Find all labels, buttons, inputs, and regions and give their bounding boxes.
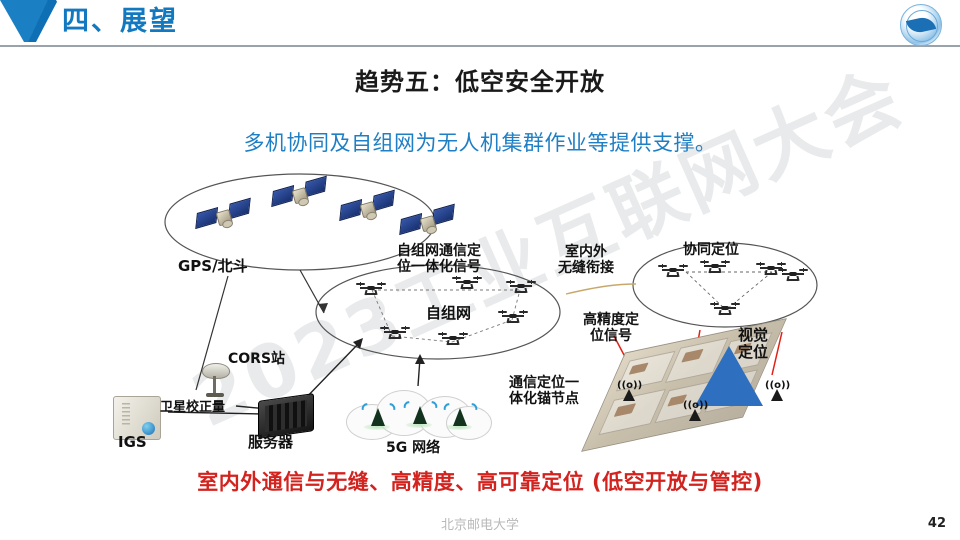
label-satellite-correction: 卫星校正量 bbox=[160, 401, 225, 416]
header-divider bbox=[0, 45, 960, 47]
drone-icon bbox=[452, 276, 482, 290]
label-five-g-network: 5G 网络 bbox=[386, 441, 440, 457]
slide-header: 四、展望 bbox=[0, 0, 960, 48]
label-high-precision-signal: 高精度定 位信号 bbox=[583, 313, 639, 344]
label-gps-beidou: GPS/北斗 bbox=[178, 258, 248, 275]
label-server: 服务器 bbox=[248, 434, 293, 451]
architecture-diagram: ((o)) ((o)) ((o)) GPS/北斗 自组网通信定 位一体化信号 自… bbox=[0, 160, 960, 465]
drone-icon bbox=[380, 326, 410, 340]
drone-icon bbox=[438, 332, 468, 346]
drone-icon bbox=[658, 264, 688, 278]
label-igs: IGS bbox=[118, 434, 147, 451]
drone-icon bbox=[506, 280, 536, 294]
label-cooperative-positioning: 协同定位 bbox=[683, 243, 739, 259]
slide-root: 四、展望 趋势五：低空安全开放 多机协同及自组网为无人机集群作业等提供支撑。 2… bbox=[0, 0, 960, 540]
label-indoor-outdoor: 室内外 无缝衔接 bbox=[558, 245, 614, 276]
anchor-node-icon: ((o)) bbox=[615, 380, 641, 402]
anchor-node-icon: ((o)) bbox=[681, 400, 707, 422]
anchor-node-icon: ((o)) bbox=[763, 380, 789, 402]
base-station-icon bbox=[446, 400, 472, 428]
indoor-floorplan: ((o)) ((o)) ((o)) bbox=[603, 340, 799, 428]
label-adhoc-signal: 自组网通信定 位一体化信号 bbox=[397, 244, 481, 275]
slide-footer: 北京邮电大学 bbox=[0, 514, 960, 533]
conclusion-text: 室内外通信与无缝、高精度、高可靠定位 (低空开放与管控) bbox=[0, 466, 960, 496]
page-subtitle: 多机协同及自组网为无人机集群作业等提供支撑。 bbox=[0, 127, 960, 157]
drone-icon bbox=[710, 302, 740, 316]
label-anchor-node: 通信定位一 体化锚节点 bbox=[509, 376, 579, 407]
five-g-cloud bbox=[346, 386, 492, 440]
base-station-icon bbox=[364, 400, 390, 428]
label-visual-positioning: 视觉 定位 bbox=[738, 327, 768, 361]
page-number: 42 bbox=[928, 516, 946, 531]
seamless-handover-arc bbox=[566, 284, 636, 294]
cors-antenna-icon bbox=[200, 363, 230, 397]
drone-icon bbox=[498, 310, 528, 324]
drone-icon bbox=[778, 268, 808, 282]
drone-icon bbox=[356, 282, 386, 296]
page-title: 趋势五：低空安全开放 bbox=[0, 62, 960, 97]
drone-icon bbox=[700, 260, 730, 274]
section-title: 四、展望 bbox=[62, 4, 178, 40]
label-adhoc-net: 自组网 bbox=[426, 305, 471, 322]
bupt-logo-icon bbox=[900, 4, 942, 46]
base-station-icon bbox=[406, 398, 432, 426]
arrow-gps-to-adhoc bbox=[318, 303, 328, 313]
label-cors-station: CORS站 bbox=[228, 352, 285, 368]
